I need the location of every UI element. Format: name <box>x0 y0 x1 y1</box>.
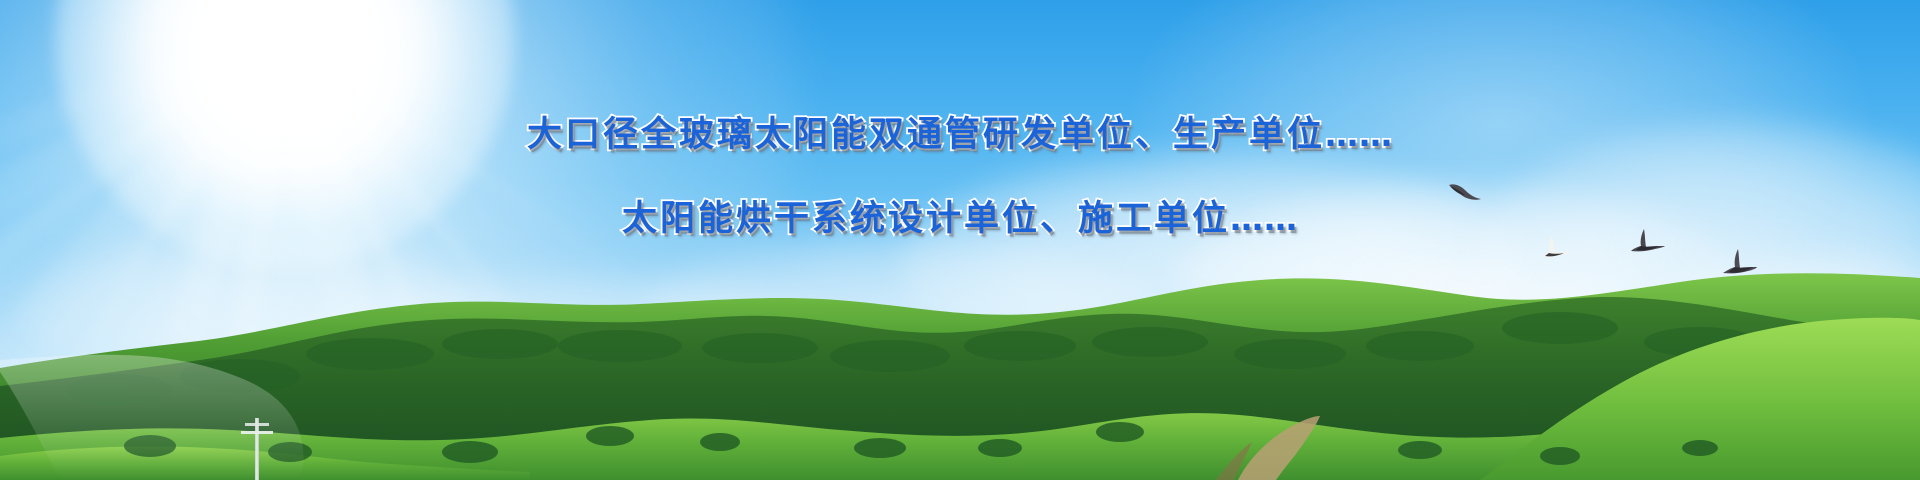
utility-pole <box>255 418 259 480</box>
utility-pole-crossarm <box>245 423 269 426</box>
utility-pole-crossarm <box>241 431 273 434</box>
green-hills <box>0 250 1920 480</box>
hero-banner: 大口径全玻璃太阳能双通管研发单位、生产单位…… 太阳能烘干系统设计单位、施工单位… <box>0 0 1920 480</box>
bird-icon <box>1448 182 1482 208</box>
